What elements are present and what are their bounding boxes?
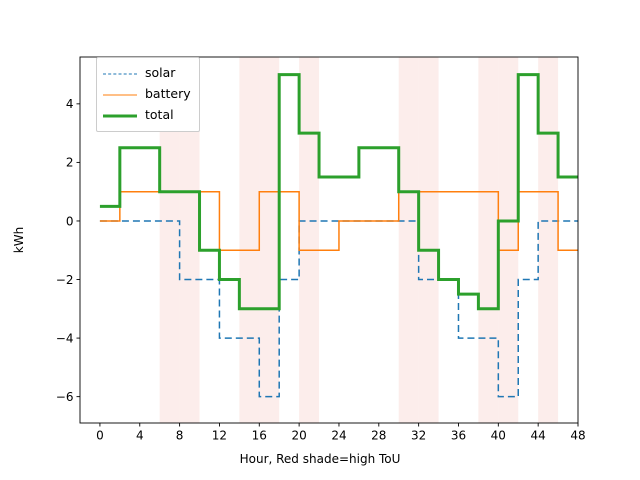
chart-figure: 04812162024283236404448−6−4−2024 kWh Hou… xyxy=(0,0,640,480)
y-tick-label: −6 xyxy=(56,390,74,404)
legend-item-total[interactable]: total xyxy=(103,105,191,126)
chart-legend: solar battery total xyxy=(96,57,200,132)
x-tick-label: 48 xyxy=(570,429,585,443)
tou-shade-band xyxy=(419,57,439,423)
x-tick-label: 20 xyxy=(291,429,306,443)
tou-shade-band xyxy=(259,57,279,423)
x-tick-label: 16 xyxy=(252,429,267,443)
solar-legend-key xyxy=(103,68,137,80)
tou-shade-band xyxy=(239,57,259,423)
total-legend-key xyxy=(103,110,137,122)
x-axis-label: Hour, Red shade=high ToU xyxy=(0,452,640,466)
y-axis-label: kWh xyxy=(12,227,26,253)
legend-label-solar: solar xyxy=(145,67,175,80)
tou-shade-band xyxy=(399,57,419,423)
y-tick-label: 0 xyxy=(66,214,74,228)
x-tick-label: 8 xyxy=(176,429,184,443)
x-tick-label: 44 xyxy=(531,429,546,443)
x-tick-label: 24 xyxy=(331,429,346,443)
legend-item-solar[interactable]: solar xyxy=(103,63,191,84)
x-tick-label: 40 xyxy=(491,429,506,443)
x-tick-label: 12 xyxy=(212,429,227,443)
tou-shade-band xyxy=(498,57,518,423)
x-tick-label: 36 xyxy=(451,429,466,443)
y-tick-label: 2 xyxy=(66,156,74,170)
y-tick-label: −2 xyxy=(56,273,74,287)
tou-shade-band xyxy=(299,57,319,423)
x-tick-label: 4 xyxy=(136,429,144,443)
x-tick-label: 32 xyxy=(411,429,426,443)
legend-label-total: total xyxy=(145,109,174,122)
tou-shade-band xyxy=(538,57,558,423)
legend-item-battery[interactable]: battery xyxy=(103,84,191,105)
y-tick-label: −4 xyxy=(56,331,74,345)
x-tick-label: 0 xyxy=(96,429,104,443)
legend-label-battery: battery xyxy=(145,88,191,101)
tou-shade-band xyxy=(478,57,498,423)
x-tick-label: 28 xyxy=(371,429,386,443)
battery-legend-key xyxy=(103,89,137,101)
y-tick-label: 4 xyxy=(66,97,74,111)
